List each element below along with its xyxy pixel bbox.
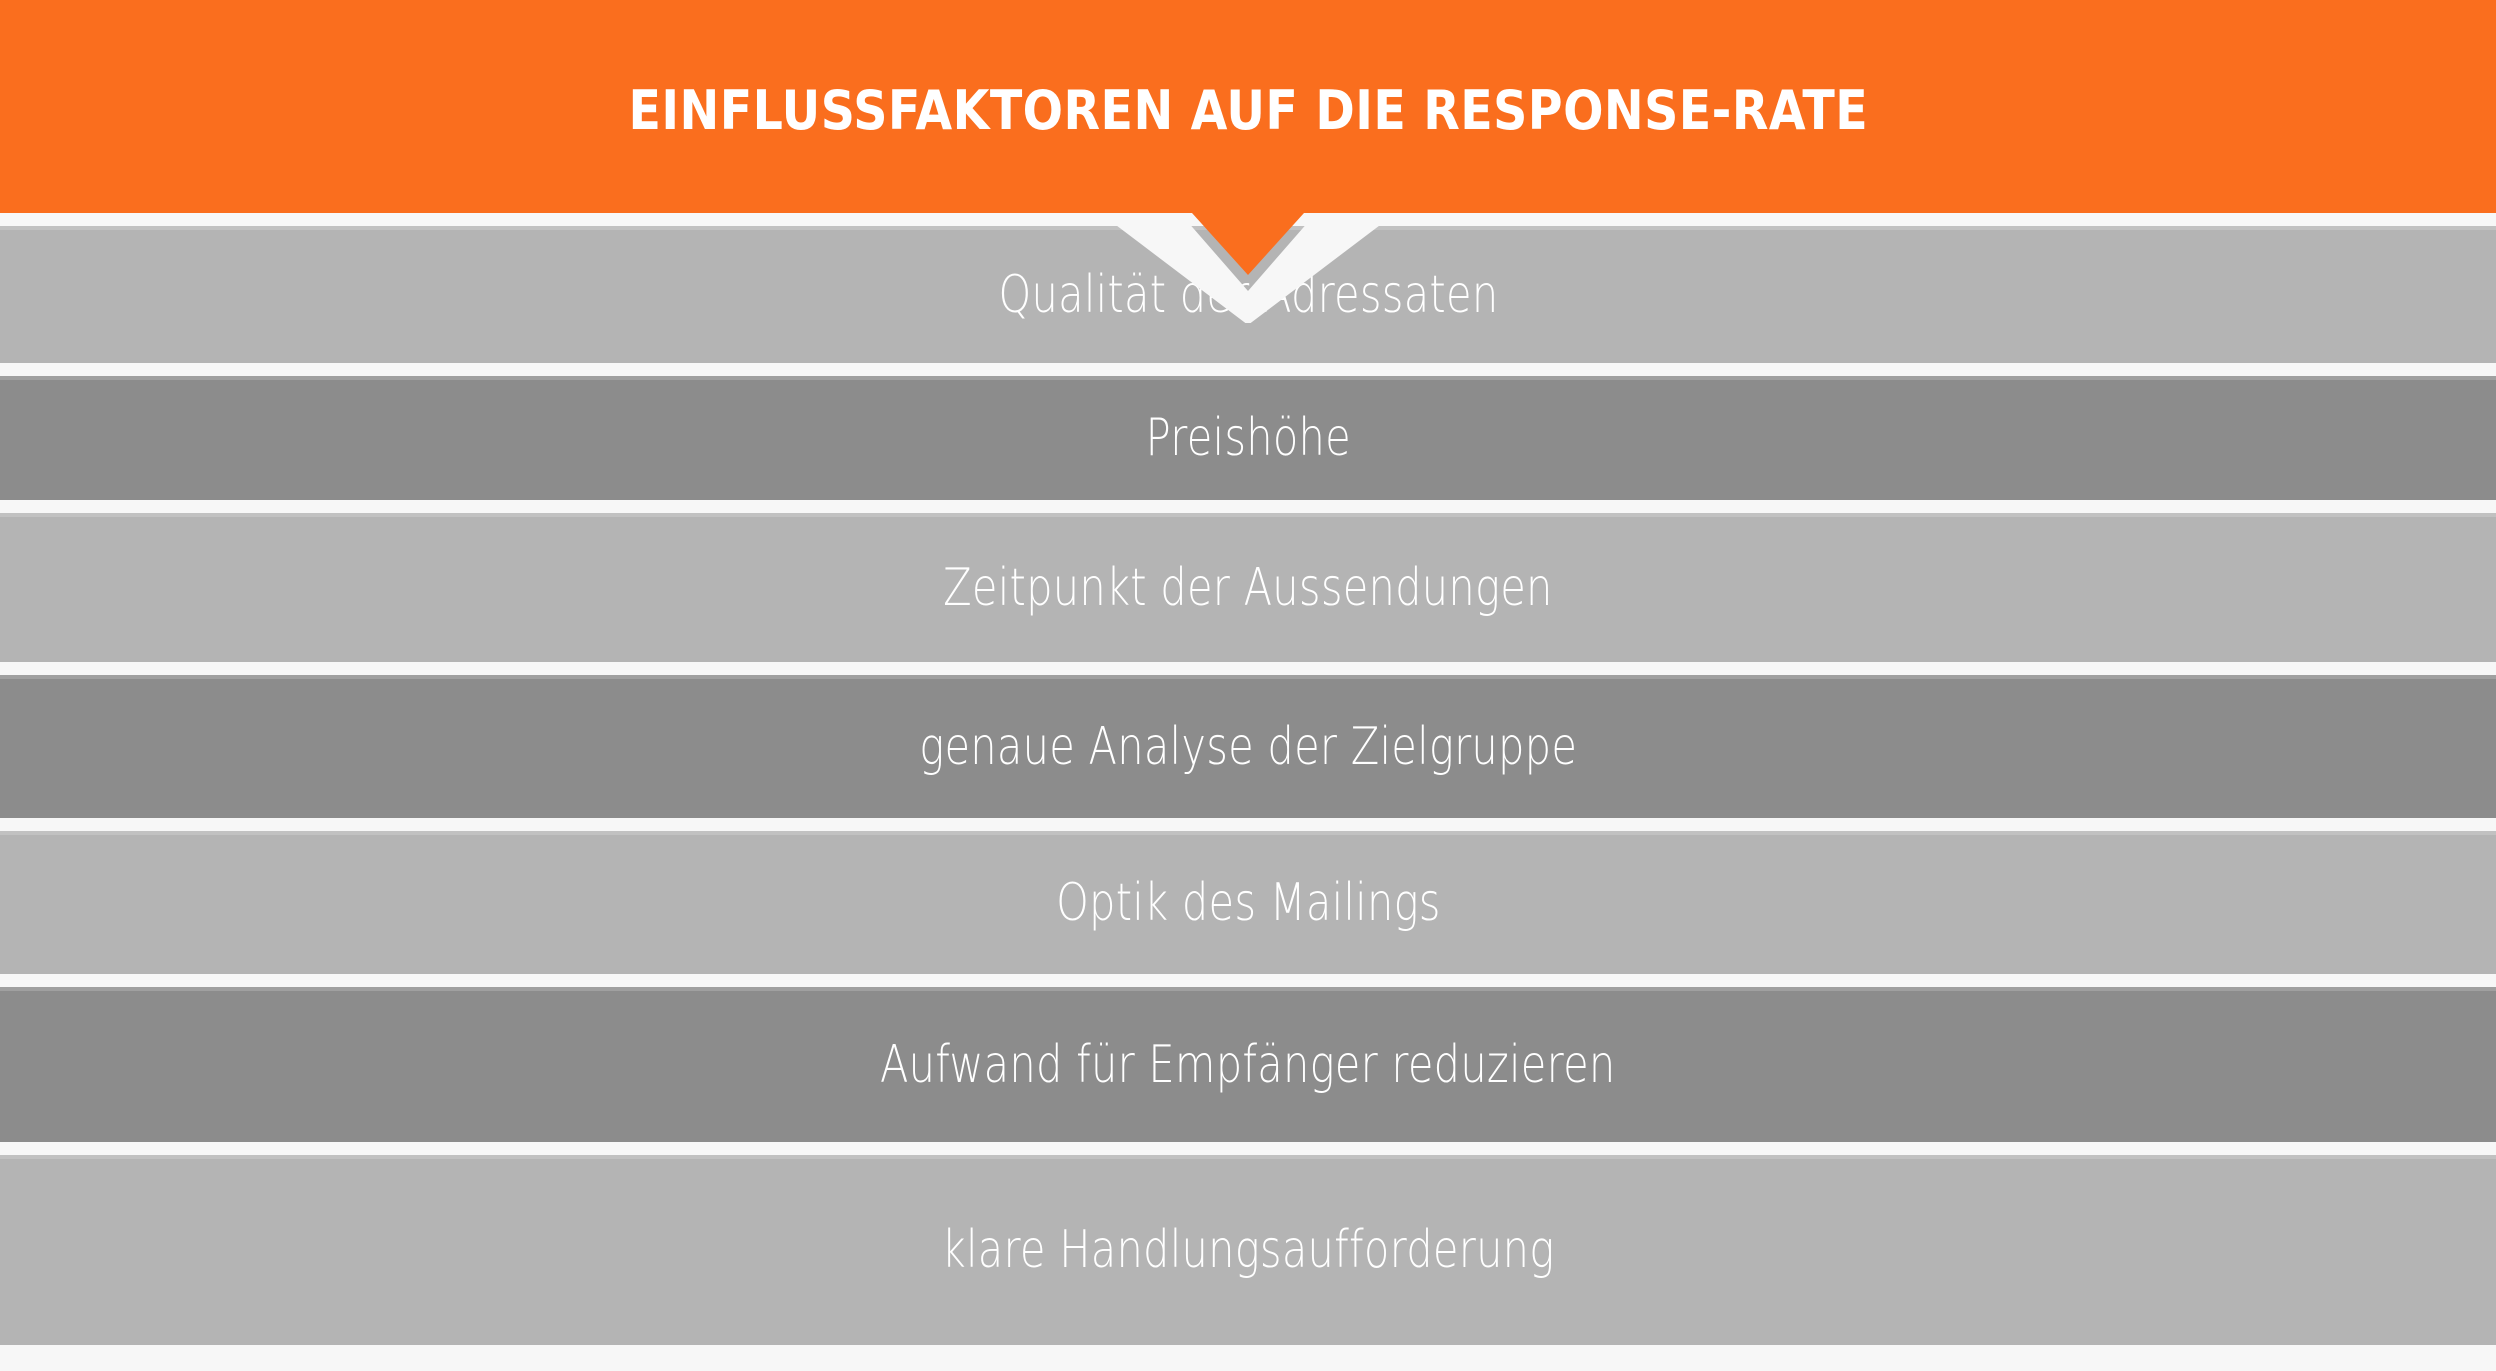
list-item-label: Zeitpunkt der Aussendungen xyxy=(943,562,1552,614)
list-item-label: Preishöhe xyxy=(1145,412,1350,464)
infographic-root: EINFLUSSFAKTOREN AUF DIE RESPONSE-RATE Q… xyxy=(0,0,2496,1371)
list-item[interactable]: Zeitpunkt der Aussendungen xyxy=(0,513,2496,662)
page-title: EINFLUSSFAKTOREN AUF DIE RESPONSE-RATE xyxy=(628,84,1868,138)
header-banner: EINFLUSSFAKTOREN AUF DIE RESPONSE-RATE xyxy=(0,0,2496,213)
list-item-label: Optik des Mailings xyxy=(1056,877,1441,929)
list-divider xyxy=(0,974,2496,987)
list-item[interactable]: Aufwand für Empfänger reduzieren xyxy=(0,987,2496,1142)
list-divider xyxy=(0,1142,2496,1155)
list-item[interactable]: Preishöhe xyxy=(0,376,2496,500)
list-item-label: klare Handlungsaufforderung xyxy=(942,1224,1555,1276)
list-divider xyxy=(0,363,2496,376)
list-divider xyxy=(0,662,2496,675)
list-item-label: Aufwand für Empfänger reduzieren xyxy=(880,1039,1616,1091)
list-item-label: Qualität der Adressaten xyxy=(998,269,1498,321)
list-divider xyxy=(0,500,2496,513)
list-item[interactable]: Optik des Mailings xyxy=(0,831,2496,974)
list-item-label: genaue Analyse der Zielgruppe xyxy=(919,721,1577,773)
list-item[interactable]: klare Handlungsaufforderung xyxy=(0,1155,2496,1345)
factor-list: Qualität der Adressaten Preishöhe Zeitpu… xyxy=(0,226,2496,1371)
list-item[interactable]: genaue Analyse der Zielgruppe xyxy=(0,675,2496,818)
list-divider xyxy=(0,818,2496,831)
list-item[interactable]: Qualität der Adressaten xyxy=(0,226,2496,363)
